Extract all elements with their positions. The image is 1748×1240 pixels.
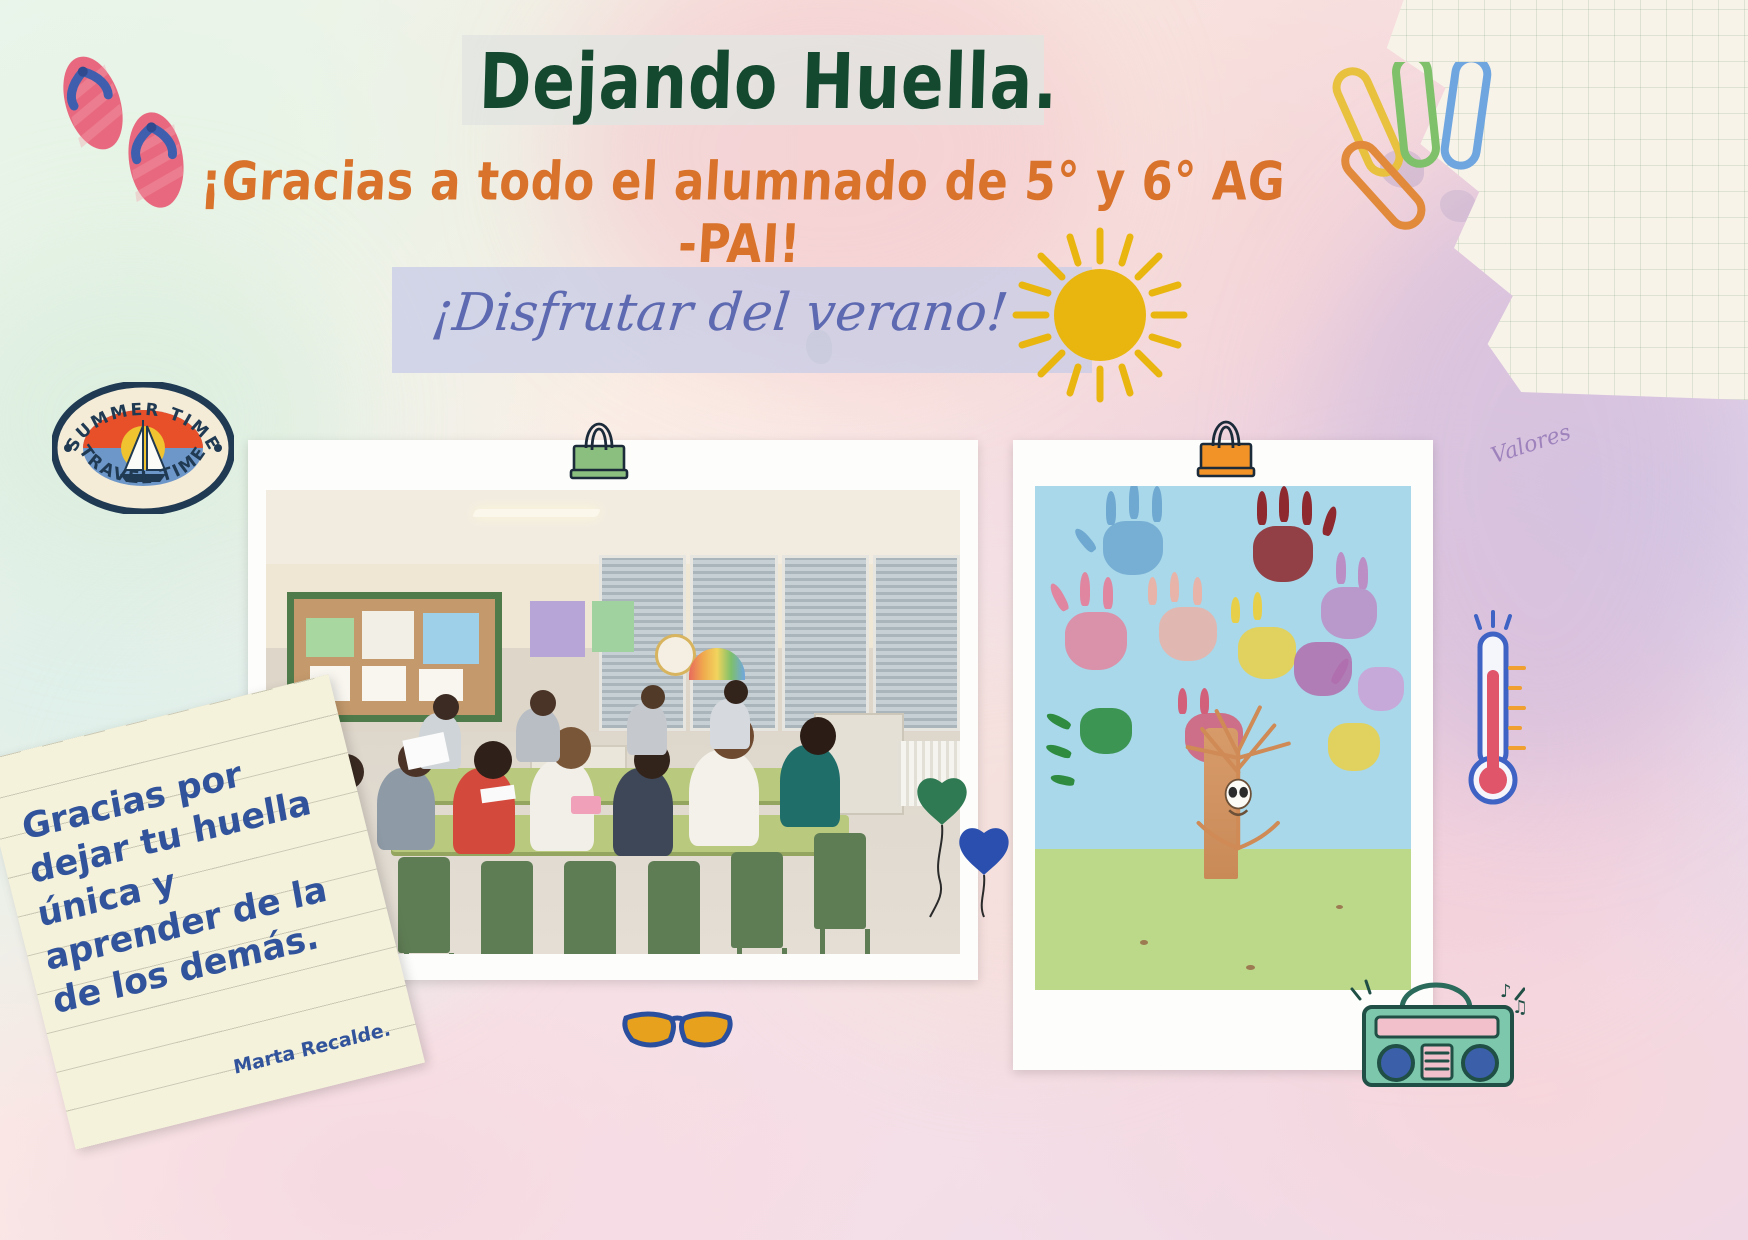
summer-message: ¡Disfrutar del verano!	[397, 283, 1043, 343]
notepad-message: Gracias por dejar tu huella única y apre…	[19, 731, 364, 1025]
svg-text:♫: ♫	[1512, 997, 1525, 1018]
sunglasses-icon	[620, 1000, 735, 1065]
summer-time-badge: SUMMER TIME TRAVEL TIME	[52, 382, 234, 514]
flip-flops-icon	[48, 48, 198, 213]
binder-clip-green[interactable]	[566, 420, 632, 482]
balloons-icon	[912, 775, 1022, 925]
thermometer-icon	[1462, 608, 1532, 818]
page-title: Dejando Huella.	[467, 37, 1070, 126]
poster-canvas: Dejando Huella. ¡Gracias a todo el alumn…	[0, 0, 1748, 1240]
handprint-tree-photo	[1035, 486, 1411, 990]
radio-icon: ♪ ♫	[1350, 975, 1525, 1100]
tree-drawing	[1148, 637, 1328, 879]
notepad-signature: Marta Recalde.	[231, 1018, 391, 1079]
binder-clip-orange[interactable]	[1193, 418, 1259, 480]
sun-icon	[1010, 225, 1190, 405]
paperclips-icon	[1322, 62, 1522, 232]
svg-text:♪: ♪	[1500, 981, 1512, 1002]
